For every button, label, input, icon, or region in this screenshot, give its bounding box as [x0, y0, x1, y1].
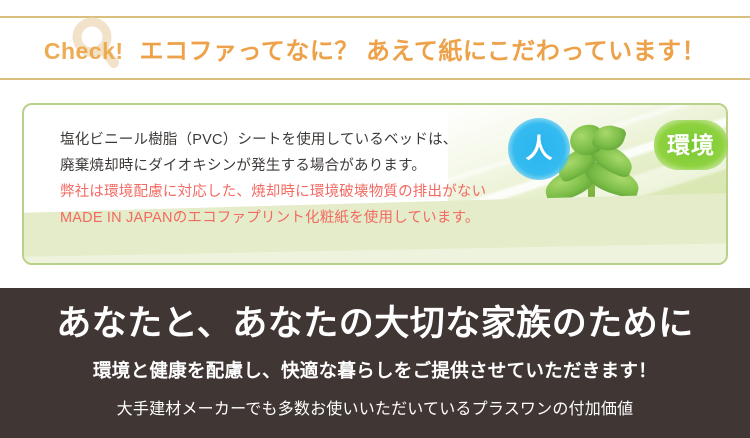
check-label: Check! [44, 38, 124, 65]
badge-environment-label: 環境 [667, 134, 715, 157]
badge-environment: 環境 [654, 120, 728, 170]
eco-info-line-3: 弊社は環境配慮に対応した、焼却時に環境破壊物質の排出がない [60, 179, 486, 205]
badge-person-label: 人 [526, 136, 553, 163]
eco-info-box: 塩化ビニール樹脂（PVC）シートを使用しているベッドは、 廃棄焼却時にダイオキシ… [22, 103, 728, 265]
promo-banner: Check! エコファってなに？ あえて紙にこだわっています！ [0, 0, 750, 438]
eco-info-line-2: 廃棄焼却時にダイオキシンが発生する場合があります。 [60, 153, 486, 179]
header-title: エコファってなに？ あえて紙にこだわっています！ [140, 31, 707, 66]
badge-person: 人 [508, 118, 570, 180]
header-band: Check! エコファってなに？ あえて紙にこだわっています！ [0, 16, 750, 80]
eco-info-text: 塩化ビニール樹脂（PVC）シートを使用しているベッドは、 廃棄焼却時にダイオキシ… [60, 127, 486, 231]
footer-headline: あなたと、あなたの大切な家族のために [56, 302, 694, 346]
footer-subline-1: 環境と健康を配慮し、快適な暮らしをご提供させていただきます！ [93, 357, 657, 383]
eco-info-line-4: MADE IN JAPANのエコファプリント化粧紙を使用しています。 [60, 205, 486, 231]
header-inner: Check! エコファってなに？ あえて紙にこだわっています！ [44, 31, 706, 66]
footer-message-band: あなたと、あなたの大切な家族のために 環境と健康を配慮し、快適な暮らしをご提供さ… [0, 288, 750, 438]
footer-subline-2: 大手建材メーカーでも多数お使いいただいているプラスワンの付加価値 [117, 395, 634, 419]
eco-info-line-1: 塩化ビニール樹脂（PVC）シートを使用しているベッドは、 [60, 127, 486, 153]
